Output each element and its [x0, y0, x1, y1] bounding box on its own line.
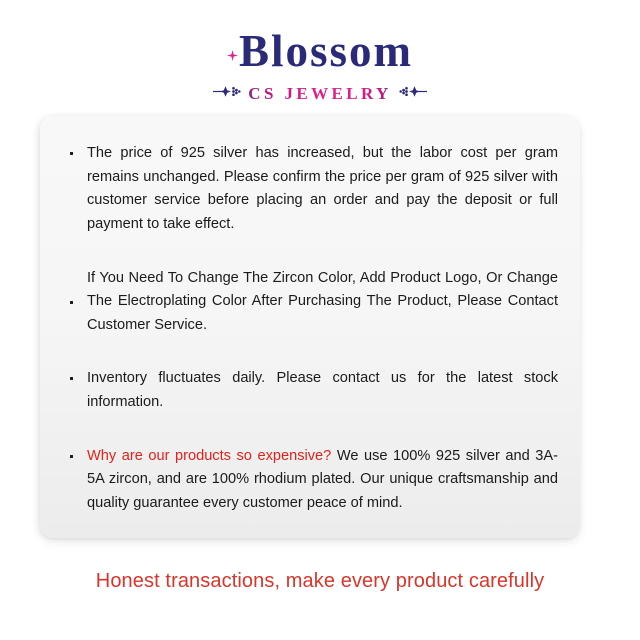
notice-list: The price of 925 silver has increased, b…	[62, 142, 558, 516]
floral-ornament-icon	[213, 84, 243, 104]
bullet-icon	[70, 377, 73, 380]
list-item: Inventory fluctuates daily. Please conta…	[62, 367, 558, 414]
list-item: Why are our products so expensive? We us…	[62, 445, 558, 516]
list-item: If You Need To Change The Zircon Color, …	[62, 267, 558, 338]
note-text: Inventory fluctuates daily. Please conta…	[87, 370, 558, 410]
footer-tagline: Honest transactions, make every product …	[0, 568, 640, 594]
notice-card: The price of 925 silver has increased, b…	[40, 116, 580, 538]
brand-header: Blossom CS JEWELRY	[0, 0, 640, 104]
list-item: The price of 925 silver has increased, b…	[62, 142, 558, 237]
brand-name: Blossom	[239, 28, 413, 75]
diamond-sparkle-icon	[227, 49, 238, 60]
note-text: The price of 925 silver has increased, b…	[87, 145, 558, 232]
note-text: If You Need To Change The Zircon Color, …	[87, 270, 558, 333]
bullet-icon	[70, 301, 73, 304]
bullet-icon	[70, 455, 73, 458]
floral-ornament-icon	[397, 84, 427, 104]
brand-subtitle-row: CS JEWELRY	[0, 84, 640, 104]
brand-name-row: Blossom	[0, 28, 640, 75]
bullet-icon	[70, 152, 73, 155]
brand-subtitle: CS JEWELRY	[248, 84, 391, 104]
note-highlight: Why are our products so expensive?	[87, 448, 331, 464]
